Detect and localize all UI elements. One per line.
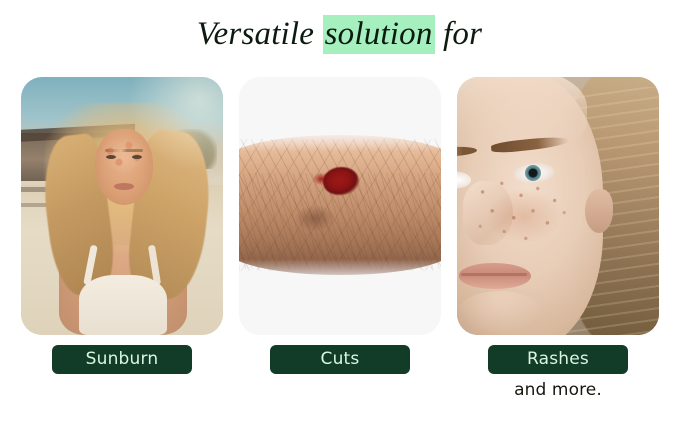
- label-slot-rashes: Rashes and more.: [457, 345, 659, 375]
- white-top-shape: [79, 275, 167, 335]
- freckle-texture: [461, 173, 581, 259]
- badge-sunburn[interactable]: Sunburn: [52, 345, 192, 374]
- woman-left-eye: [106, 155, 116, 159]
- promo-poster: Versatile solution for: [0, 0, 679, 424]
- page-title: Versatile solution for: [0, 14, 679, 54]
- face-lips-shape: [459, 263, 531, 289]
- and-more-text: and more.: [514, 380, 602, 400]
- label-row: Sunburn Cuts Rashes and more.: [21, 345, 659, 375]
- badge-cuts[interactable]: Cuts: [270, 345, 410, 374]
- label-slot-sunburn: Sunburn: [21, 345, 223, 375]
- face-chin-shape: [457, 291, 543, 335]
- sun-glow-overlay: [127, 77, 223, 187]
- skin-bruise-shape: [295, 205, 335, 231]
- title-highlight-word: solution: [323, 15, 435, 54]
- arm-top-fade: [239, 129, 441, 151]
- sunburn-photo: [21, 77, 223, 335]
- rashes-photo: [457, 77, 659, 335]
- face-forehead-shape: [457, 77, 587, 147]
- title-part-one: Versatile: [197, 16, 314, 52]
- card-cuts[interactable]: [239, 77, 441, 335]
- label-slot-cuts: Cuts: [239, 345, 441, 375]
- badge-rashes[interactable]: Rashes: [488, 345, 628, 374]
- face-lip-line: [461, 273, 527, 276]
- card-rashes[interactable]: [457, 77, 659, 335]
- cuts-photo: [239, 77, 441, 335]
- face-ear-shape: [585, 189, 613, 233]
- arm-bottom-fade: [239, 259, 441, 285]
- title-part-two: for: [443, 16, 482, 52]
- image-card-row: [21, 77, 659, 335]
- card-sunburn[interactable]: [21, 77, 223, 335]
